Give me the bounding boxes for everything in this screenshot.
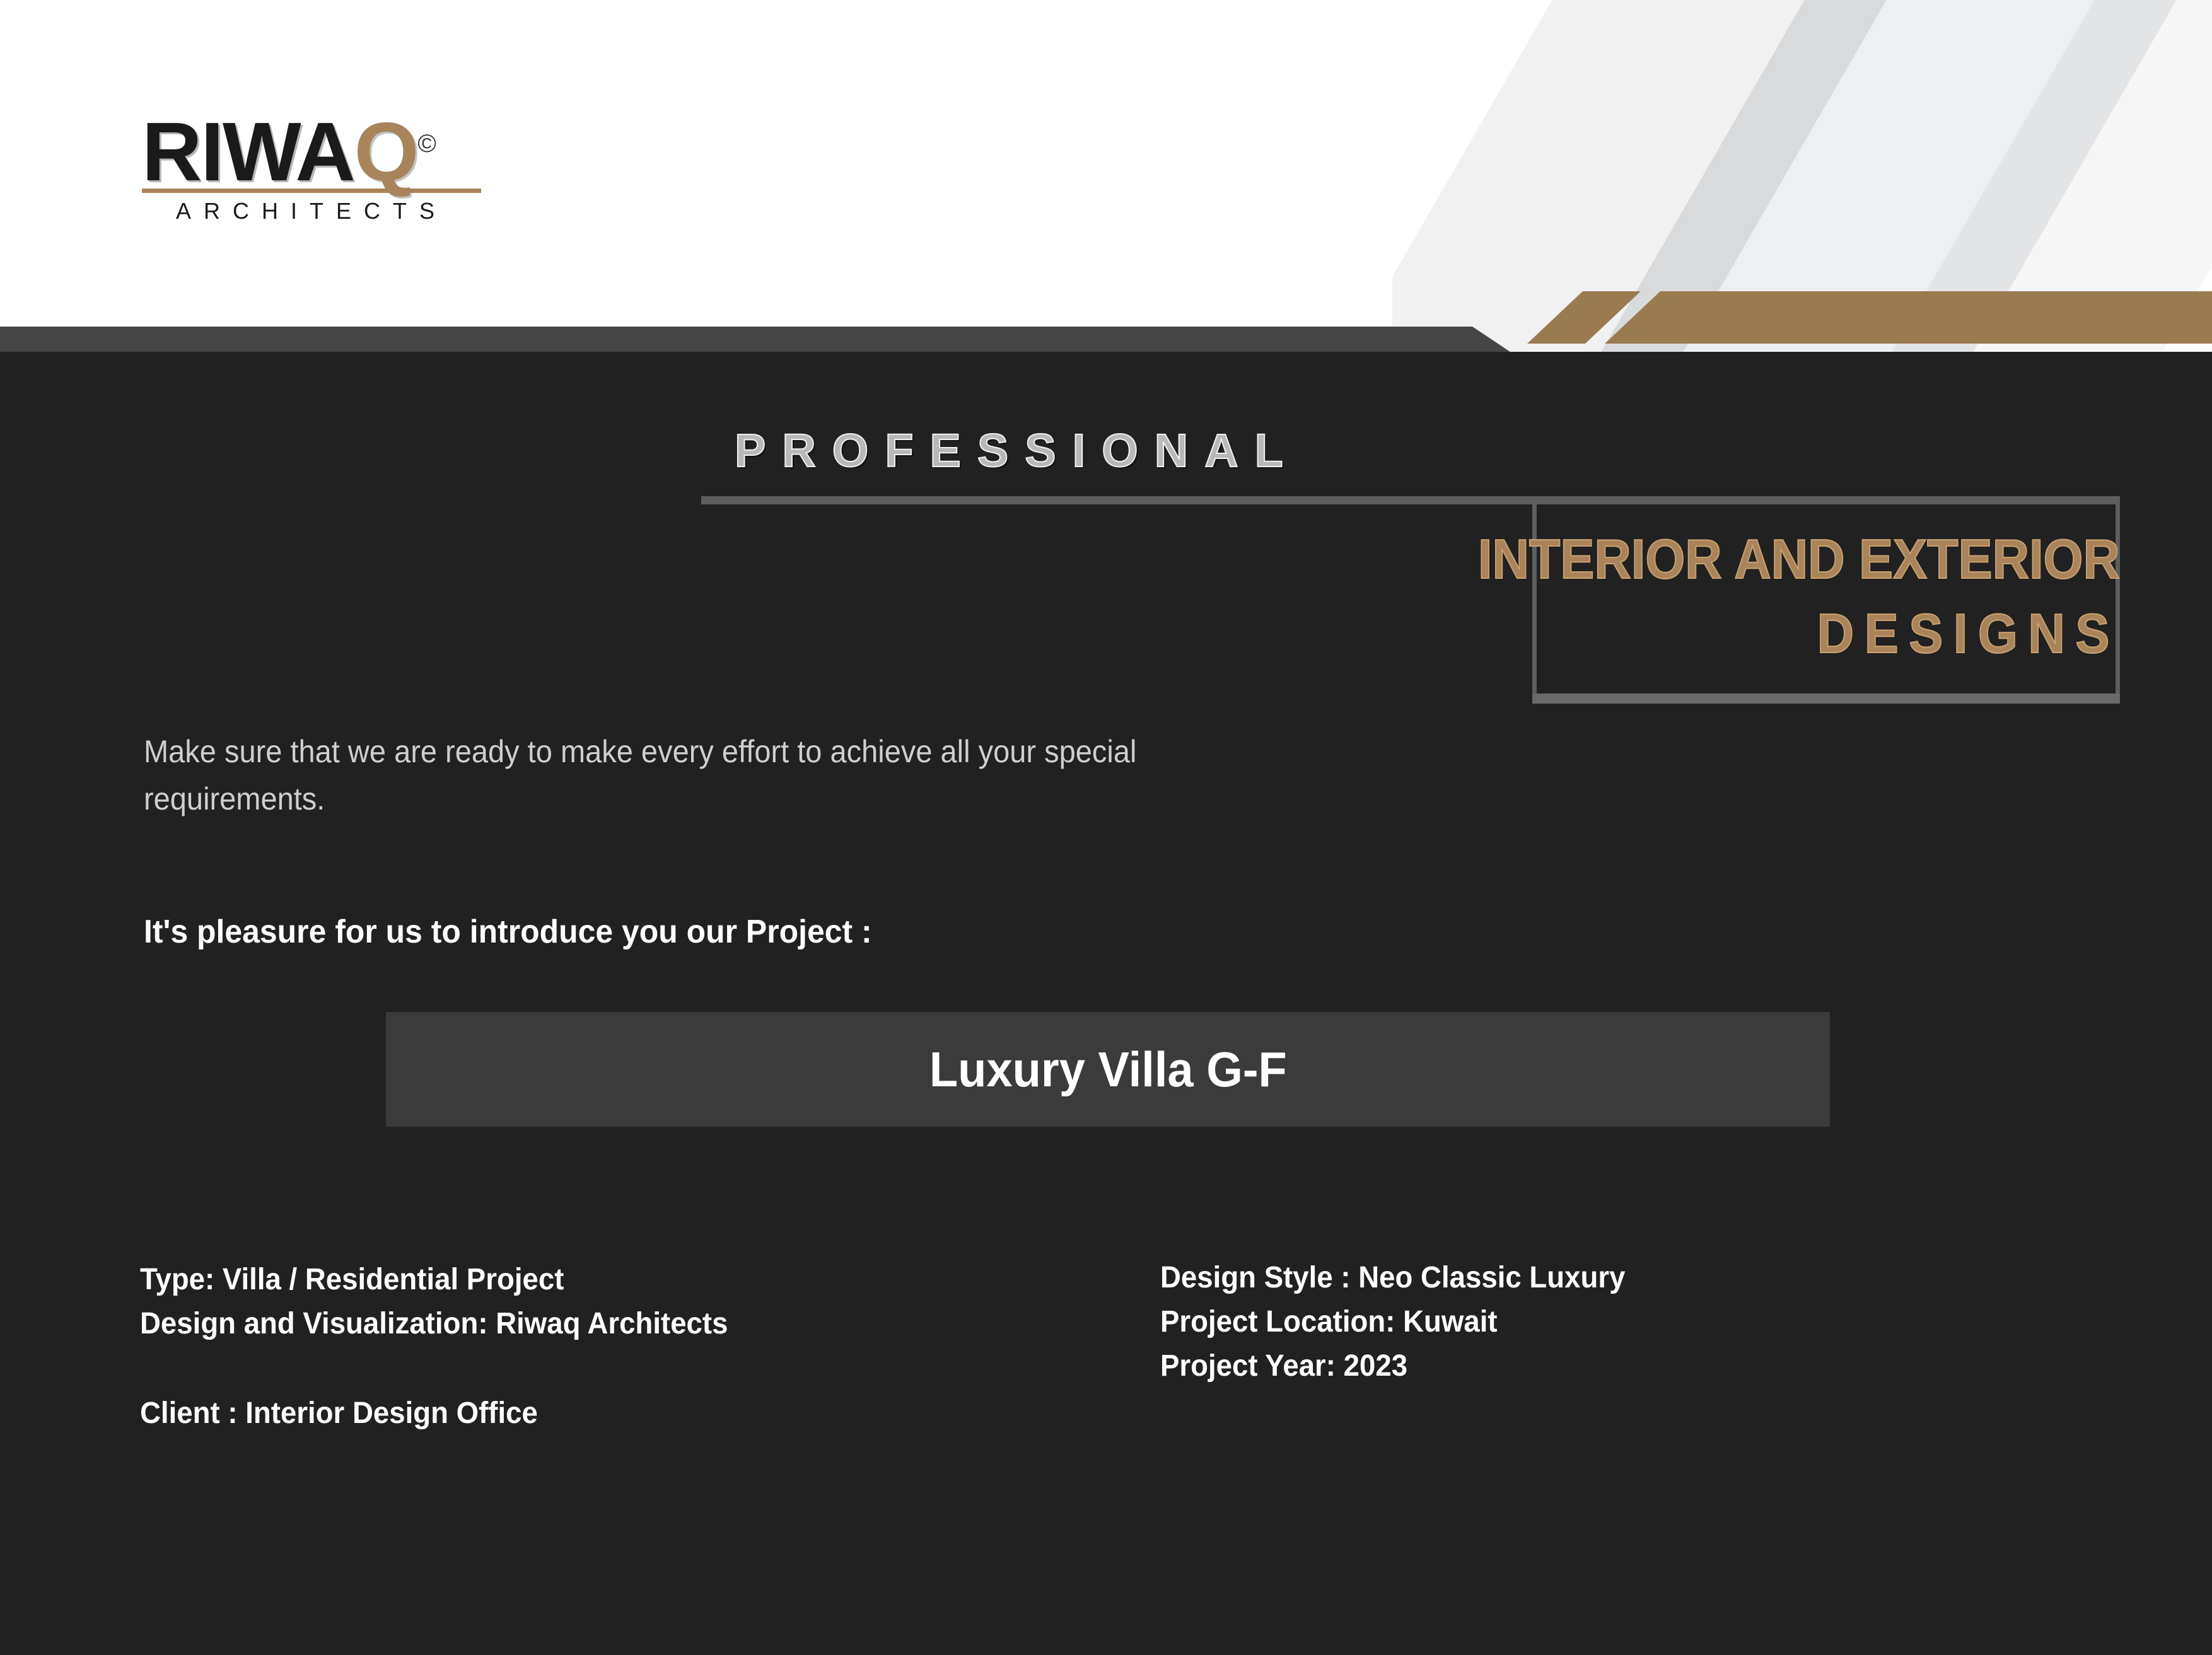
- riwaq-logo: RIWAQ© ARCHITECTS: [142, 110, 545, 224]
- header-grey-bar: [0, 327, 1510, 352]
- headline-bottom-rule: [1532, 694, 2120, 704]
- slide-header: RIWAQ© ARCHITECTS: [0, 0, 2212, 352]
- detail-client: Client : Interior Design Office: [140, 1391, 1039, 1436]
- lead-paragraph: Make sure that we are ready to make ever…: [144, 728, 1270, 823]
- detail-design-style: Design Style : Neo Classic Luxury: [1160, 1256, 1999, 1300]
- copyright-icon: ©: [417, 130, 436, 158]
- detail-spacer: [140, 1346, 1086, 1391]
- logo-accent-letter: Q: [354, 105, 418, 198]
- main-heading-line-2: DESIGNS: [902, 596, 2120, 671]
- detail-type: Type: Villa / Residential Project: [140, 1258, 1039, 1302]
- project-title-bar: Luxury Villa G-F: [386, 1012, 1830, 1127]
- eyebrow-heading: PROFESSIONAL: [735, 424, 1300, 477]
- project-details-left: Type: Villa / Residential Project Design…: [140, 1258, 1086, 1436]
- logo-subtitle: ARCHITECTS: [142, 198, 481, 224]
- header-gold-band: [1605, 291, 2212, 344]
- detail-project-location: Project Location: Kuwait: [1160, 1300, 1999, 1344]
- detail-design-visualization: Design and Visualization: Riwaq Architec…: [140, 1302, 1039, 1346]
- presentation-slide: RIWAQ© ARCHITECTS PROFESSIONAL INTERIOR …: [0, 0, 2212, 1655]
- project-details-right: Design Style : Neo Classic Luxury Projec…: [1160, 1256, 2043, 1388]
- intro-line: It's pleasure for us to introduce you ou…: [144, 913, 872, 951]
- logo-main-text: RIWA: [142, 105, 354, 198]
- project-title: Luxury Villa G-F: [929, 1041, 1287, 1098]
- main-heading-line-1: INTERIOR AND EXTERIOR: [902, 522, 2120, 596]
- main-heading: INTERIOR AND EXTERIOR DESIGNS: [902, 522, 2120, 671]
- logo-wordmark: RIWAQ©: [142, 110, 545, 194]
- detail-project-year: Project Year: 2023: [1160, 1344, 1999, 1388]
